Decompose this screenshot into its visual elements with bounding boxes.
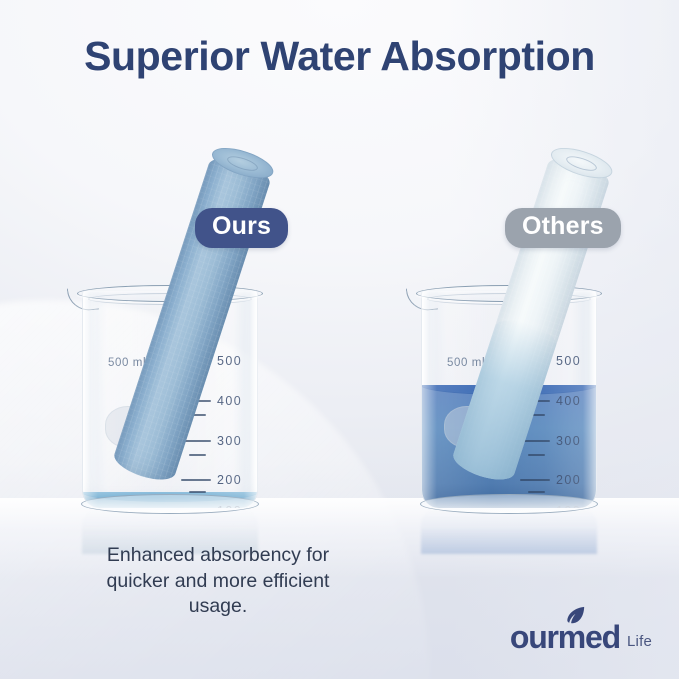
liquid-body [422, 385, 596, 508]
beaker-glass: 500 ml 500 400 [82, 291, 258, 508]
graduation-tick [181, 400, 211, 402]
graduation-label: 500 [217, 354, 242, 368]
graduation-tick [189, 414, 206, 416]
beaker-rim [416, 285, 602, 302]
beaker-spout [67, 285, 99, 312]
logo-wordmark-wrap: ourmed [510, 621, 620, 653]
comparison-panel-ours: 500 ml 500 400 [0, 0, 340, 679]
beaker-glass: 500 ml 500 400 [421, 291, 597, 508]
beaker-capacity-label: 500 ml [447, 357, 485, 369]
roll-core-hole [565, 153, 599, 173]
comparison-panel-others: 500 ml 500 400 [339, 0, 679, 679]
graduation-label: 400 [217, 394, 242, 408]
beaker-body: 500 ml 500 400 [414, 283, 604, 508]
graduation-500: 500 [520, 354, 581, 368]
logo-suffix: Life [627, 633, 652, 653]
beaker-body: 500 ml 500 400 [75, 283, 265, 508]
beaker-rim-inner [88, 293, 252, 305]
graduation-tick [520, 360, 550, 362]
graduation-tick [189, 454, 206, 456]
caption-ours: Enhanced absorbency for quicker and more… [88, 543, 348, 620]
graduation-400: 400 [181, 394, 242, 408]
graduation-tick [189, 374, 206, 376]
graduation-200: 200 [181, 473, 242, 487]
beaker-others: 500 ml 500 400 [414, 283, 604, 508]
beaker-graduations: 500 400 [83, 291, 257, 508]
roll-top-cap [548, 142, 616, 185]
beaker-base [81, 494, 259, 514]
beaker-embossed-oval [444, 406, 500, 448]
graduation-450 [520, 374, 545, 376]
beaker-base [420, 494, 598, 514]
promo-image-canvas: Superior Water Absorption [0, 0, 679, 679]
beaker-reflection-others [421, 508, 597, 554]
graduation-tick [181, 360, 211, 362]
graduation-tick [181, 440, 211, 442]
graduation-tick [181, 479, 211, 481]
graduation-500: 500 [181, 354, 242, 368]
beaker-ours: 500 ml 500 400 [75, 283, 265, 508]
beaker-embossed-oval [105, 406, 161, 448]
brand-logo: ourmed Life [510, 621, 652, 653]
graduation-350 [181, 414, 206, 416]
beaker-rim [77, 285, 263, 302]
roll-top-cap [209, 142, 277, 185]
badge-others: Others [505, 208, 621, 248]
graduation-label: 200 [217, 473, 242, 487]
beaker-spout [406, 285, 438, 312]
graduation-label: 500 [556, 354, 581, 368]
graduation-label: 300 [217, 434, 242, 448]
beaker-rim-inner [427, 293, 591, 305]
graduation-450 [181, 374, 206, 376]
graduation-250 [181, 454, 206, 456]
badge-ours: Ours [195, 208, 288, 248]
graduation-tick [528, 374, 545, 376]
beaker-liquid-others [422, 385, 596, 508]
beaker-capacity-label: 500 ml [108, 357, 146, 369]
leaf-icon [565, 606, 587, 626]
graduation-300: 300 [181, 434, 242, 448]
roll-core-hole [226, 153, 260, 173]
